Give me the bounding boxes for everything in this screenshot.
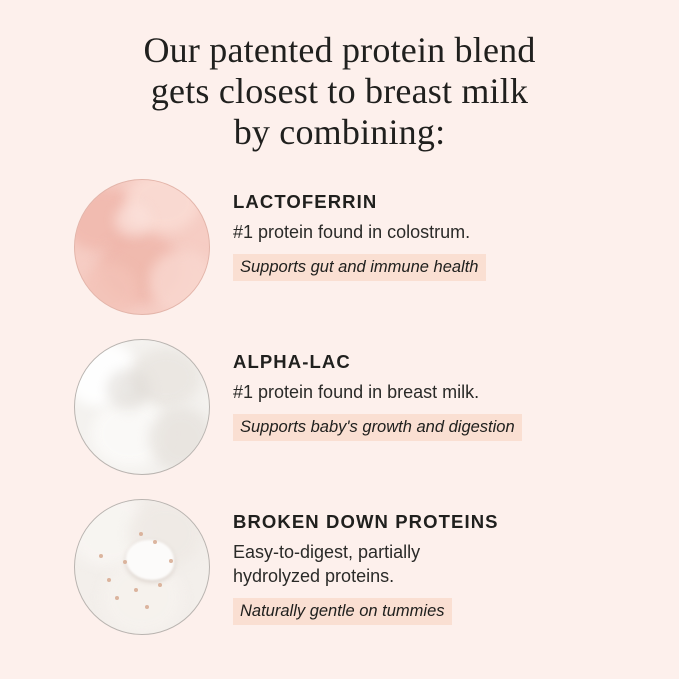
- item-description-line-1: #1 protein found in colostrum.: [233, 220, 679, 244]
- item-description-line-1: #1 protein found in breast milk.: [233, 380, 679, 404]
- item-description: Easy-to-digest, partially hydrolyzed pro…: [233, 540, 679, 588]
- item-description: #1 protein found in colostrum.: [233, 220, 679, 244]
- item-description-line-1: Easy-to-digest, partially: [233, 540, 679, 564]
- ingredient-list: LACTOFERRIN #1 protein found in colostru…: [0, 179, 679, 635]
- broken-down-proteins-swatch: [74, 499, 210, 635]
- item-title: BROKEN DOWN PROTEINS: [233, 511, 679, 533]
- status-badge: Supports gut and immune health: [233, 254, 486, 281]
- alpha-lac-powder-swatch: [74, 339, 210, 475]
- item-title: ALPHA-LAC: [233, 351, 679, 373]
- headline-line-1: Our patented protein blend: [0, 30, 679, 71]
- alpha-lac-text-block: ALPHA-LAC #1 protein found in breast mil…: [210, 339, 679, 441]
- item-description: #1 protein found in breast milk.: [233, 380, 679, 404]
- item-title: LACTOFERRIN: [233, 191, 679, 213]
- broken-down-proteins-text-block: BROKEN DOWN PROTEINS Easy-to-digest, par…: [210, 499, 679, 625]
- page-title: Our patented protein blend gets closest …: [0, 0, 679, 153]
- lactoferrin-powder-swatch: [74, 179, 210, 315]
- infographic-page: Our patented protein blend gets closest …: [0, 0, 679, 679]
- headline-line-2: gets closest to breast milk: [0, 71, 679, 112]
- lactoferrin-text-block: LACTOFERRIN #1 protein found in colostru…: [210, 179, 679, 281]
- item-description-line-2: hydrolyzed proteins.: [233, 564, 679, 588]
- list-item: BROKEN DOWN PROTEINS Easy-to-digest, par…: [0, 499, 679, 635]
- list-item: ALPHA-LAC #1 protein found in breast mil…: [0, 339, 679, 475]
- status-badge: Supports baby's growth and digestion: [233, 414, 522, 441]
- headline-line-3: by combining:: [0, 112, 679, 153]
- list-item: LACTOFERRIN #1 protein found in colostru…: [0, 179, 679, 315]
- status-badge: Naturally gentle on tummies: [233, 598, 452, 625]
